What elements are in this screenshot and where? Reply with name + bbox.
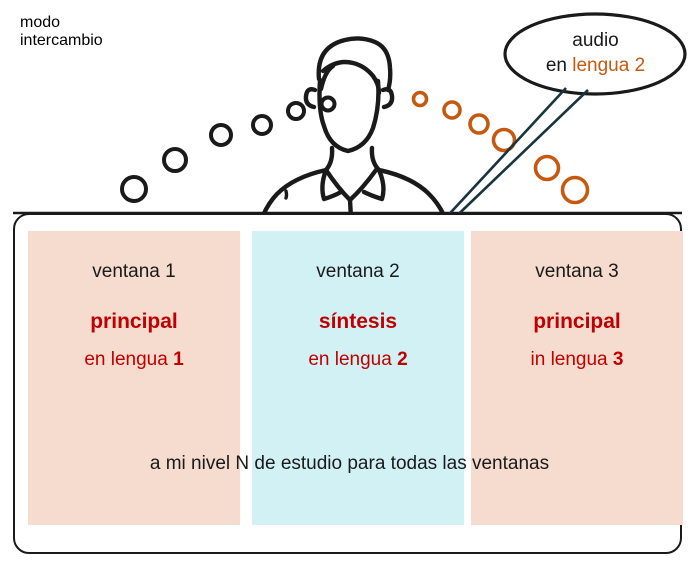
dark-circles-trail-icon — [122, 98, 335, 202]
orange-circles-trail-icon — [414, 93, 588, 203]
window-2-language-prefix: en lengua — [308, 349, 397, 370]
panel-footnote: a mi nivel N de estudio para todas las v… — [15, 454, 684, 475]
window-3-language-number: 3 — [613, 349, 624, 370]
window-1-role: principal — [28, 310, 240, 333]
window-2-label: ventana 2 — [252, 262, 464, 283]
page-title: intercambio — [20, 32, 350, 50]
window-1-language-prefix: en lengua — [84, 349, 173, 370]
window-column-1[interactable]: ventana 1 principal en lengua 1 — [28, 231, 240, 525]
balloon-line-2-accent: lengua 2 — [572, 55, 645, 76]
window-column-2[interactable]: ventana 2 síntesis en lengua 2 — [252, 231, 464, 525]
window-3-label: ventana 3 — [471, 262, 683, 283]
window-1-language-number: 1 — [173, 349, 184, 370]
window-column-3[interactable]: ventana 3 principal in lengua 3 — [471, 231, 683, 525]
window-3-language: in lengua 3 — [471, 350, 683, 371]
balloon-line-2: en lengua 2 — [508, 53, 683, 78]
balloon-line-2-prefix: en — [546, 55, 572, 76]
windows-panel: ventana 1 principal en lengua 1 ventana … — [13, 213, 682, 554]
window-2-role: síntesis — [252, 310, 464, 333]
heading-block: modo intercambio — [20, 14, 350, 50]
speech-balloon-text: audio en lengua 2 — [508, 28, 683, 79]
window-1-label: ventana 1 — [28, 262, 240, 283]
window-2-language-number: 2 — [397, 349, 408, 370]
window-3-role: principal — [471, 310, 683, 333]
window-2-language: en lengua 2 — [252, 350, 464, 371]
page-kicker: modo — [20, 14, 350, 32]
window-3-language-prefix: in lengua — [531, 349, 613, 370]
balloon-line-1: audio — [508, 28, 683, 53]
window-1-language: en lengua 1 — [28, 350, 240, 371]
